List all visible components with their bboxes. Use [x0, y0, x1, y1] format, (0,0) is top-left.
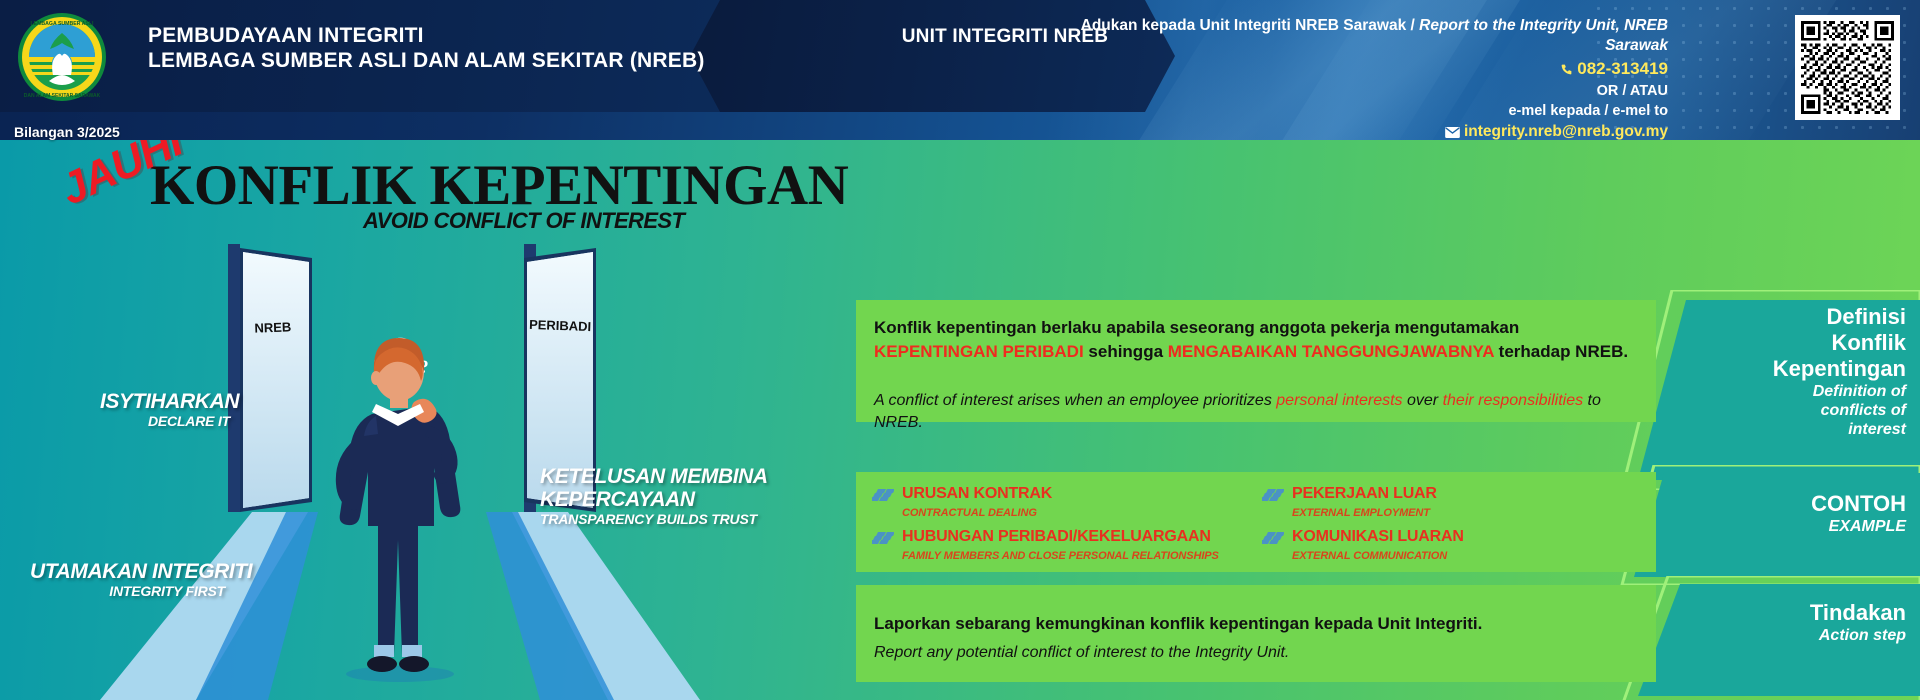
example-item-ms: KOMUNIKASI LUARAN — [1292, 528, 1464, 545]
envelope-icon — [1445, 124, 1460, 141]
phone-row[interactable]: 082-313419 — [1028, 58, 1668, 82]
speed-lines-icon — [872, 532, 894, 550]
speed-lines-icon — [1262, 489, 1284, 507]
tab-definition-ms-2: Konflik — [1620, 330, 1906, 356]
definition-ms-part2: sehingga — [1084, 342, 1168, 361]
action-text-ms: Laporkan sebarang kemungkinan konflik ke… — [874, 612, 1614, 635]
door-label-nreb: NREB — [254, 319, 291, 335]
report-line: Adukan kepada Unit Integriti NREB Sarawa… — [1028, 16, 1668, 56]
tab-definition-en-3: interest — [1620, 420, 1906, 439]
label-integrity-first: UTAMAKAN INTEGRITI INTEGRITY FIRST — [30, 560, 225, 599]
tab-definition-en-1: Definition of — [1620, 382, 1906, 401]
example-item-en: CONTRACTUAL DEALING — [902, 507, 1037, 519]
svg-text:DAN ALAM SEKITAR SARAWAK: DAN ALAM SEKITAR SARAWAK — [24, 93, 101, 99]
header-title-line2: LEMBAGA SUMBER ASLI DAN ALAM SEKITAR (NR… — [148, 48, 705, 73]
label-declare-it: ISYTIHARKAN DECLARE IT — [100, 390, 230, 429]
example-item-en: EXTERNAL EMPLOYMENT — [1292, 507, 1430, 519]
label-declare-it-ms: ISYTIHARKAN — [100, 390, 230, 413]
definition-ms-part3: terhadap NREB. — [1494, 342, 1628, 361]
definition-en-part1: A conflict of interest arises when an em… — [874, 392, 1276, 409]
panel-action: Laporkan sebarang kemungkinan konflik ke… — [856, 585, 1656, 682]
list-item: PEKERJAAN LUAR EXTERNAL EMPLOYMENT — [1262, 484, 1642, 521]
example-item-ms: URUSAN KONTRAK — [902, 485, 1052, 502]
svg-text:LEMBAGA SUMBER ASLI: LEMBAGA SUMBER ASLI — [30, 21, 94, 27]
report-line-separator: / — [1411, 17, 1415, 34]
definition-ms-part1: Konflik kepentingan berlaku apabila sese… — [874, 318, 1519, 337]
phone-number: 082-313419 — [1577, 59, 1668, 78]
list-item: URUSAN KONTRAK CONTRACTUAL DEALING — [872, 484, 1252, 521]
definition-en-highlight2: their responsibilities — [1443, 392, 1584, 409]
label-integrity-first-ms: UTAMAKAN INTEGRITI — [30, 560, 225, 583]
label-integrity-first-en: INTEGRITY FIRST — [30, 583, 225, 599]
nreb-crest-logo: LEMBAGA SUMBER ASLI DAN ALAM SEKITAR SAR… — [16, 11, 108, 103]
definition-text-ms: Konflik kepentingan berlaku apabila sese… — [874, 316, 1636, 364]
qr-code[interactable] — [1795, 15, 1900, 120]
report-line-en: Report to the Integrity Unit, NREB Saraw… — [1419, 17, 1668, 54]
list-item: KOMUNIKASI LUARAN EXTERNAL COMMUNICATION — [1262, 527, 1642, 564]
infographic-page: LEMBAGA SUMBER ASLI DAN ALAM SEKITAR SAR… — [0, 0, 1920, 700]
tab-action-en: Action step — [1620, 626, 1906, 645]
example-item-ms: HUBUNGAN PERIBADI/KEKELUARGAAN — [902, 528, 1211, 545]
definition-ms-highlight2: MENGABAIKAN TANGGUNGJAWABNYA — [1168, 342, 1494, 361]
email-label: e-mel kepada / e-mel to — [1028, 102, 1668, 121]
tab-action-ms: Tindakan — [1620, 600, 1906, 626]
label-transparency-builds-trust: KETELUSAN MEMBINA KEPERCAYAAN TRANSPAREN… — [540, 465, 768, 527]
example-item-en: FAMILY MEMBERS AND CLOSE PERSONAL RELATI… — [902, 550, 1219, 562]
tab-definition-en-2: conflicts of — [1620, 401, 1906, 420]
door-label-peribadi: PERIBADI — [529, 317, 592, 334]
header-title-line1: PEMBUDAYAAN INTEGRITI — [148, 23, 705, 48]
header-titles: PEMBUDAYAAN INTEGRITI LEMBAGA SUMBER ASL… — [148, 23, 705, 73]
phone-icon — [1560, 60, 1573, 82]
tab-action: Tindakan Action step — [1620, 576, 1920, 700]
action-text-en: Report any potential conflict of interes… — [874, 642, 1614, 664]
example-list: URUSAN KONTRAK CONTRACTUAL DEALING PEKER… — [872, 484, 1642, 564]
report-line-ms: Adukan kepada Unit Integriti NREB Sarawa… — [1081, 17, 1407, 34]
speed-lines-icon — [872, 489, 894, 507]
tab-example-en: EXAMPLE — [1620, 517, 1906, 536]
definition-text-en: A conflict of interest arises when an em… — [874, 390, 1636, 434]
label-trust-en: TRANSPARENCY BUILDS TRUST — [540, 511, 768, 527]
list-item: HUBUNGAN PERIBADI/KEKELUARGAAN FAMILY ME… — [872, 527, 1252, 564]
label-trust-ms-line1: KETELUSAN MEMBINA — [540, 465, 768, 488]
speed-lines-icon — [1262, 532, 1284, 550]
definition-ms-highlight1: KEPENTINGAN PERIBADI — [874, 342, 1084, 361]
definition-en-highlight1: personal interests — [1276, 392, 1402, 409]
email-address: integrity.nreb@nreb.gov.my — [1464, 123, 1668, 140]
tab-example: CONTOH EXAMPLE — [1620, 465, 1920, 585]
or-label: OR / ATAU — [1028, 82, 1668, 101]
header-banner: LEMBAGA SUMBER ASLI DAN ALAM SEKITAR SAR… — [0, 0, 1920, 140]
tab-example-ms: CONTOH — [1620, 491, 1906, 517]
tab-definition-ms-1: Definisi — [1620, 304, 1906, 330]
definition-en-part2: over — [1403, 392, 1443, 409]
content-stage: KONFLIK KEPENTINGAN JAUHI AVOID CONFLICT… — [0, 140, 1920, 700]
issue-number: Bilangan 3/2025 — [14, 124, 120, 140]
email-row[interactable]: integrity.nreb@nreb.gov.my — [1028, 122, 1668, 141]
contact-block: Adukan kepada Unit Integriti NREB Sarawa… — [1028, 16, 1668, 140]
tab-definition-ms-3: Kepentingan — [1620, 356, 1906, 382]
example-item-ms: PEKERJAAN LUAR — [1292, 485, 1437, 502]
tab-definition: Definisi Konflik Kepentingan Definition … — [1620, 290, 1920, 490]
panel-examples: URUSAN KONTRAK CONTRACTUAL DEALING PEKER… — [856, 472, 1656, 572]
label-declare-it-en: DECLARE IT — [100, 413, 230, 429]
example-item-en: EXTERNAL COMMUNICATION — [1292, 550, 1447, 562]
panel-definition: Konflik kepentingan berlaku apabila sese… — [856, 300, 1656, 422]
label-trust-ms-line2: KEPERCAYAAN — [540, 488, 768, 511]
